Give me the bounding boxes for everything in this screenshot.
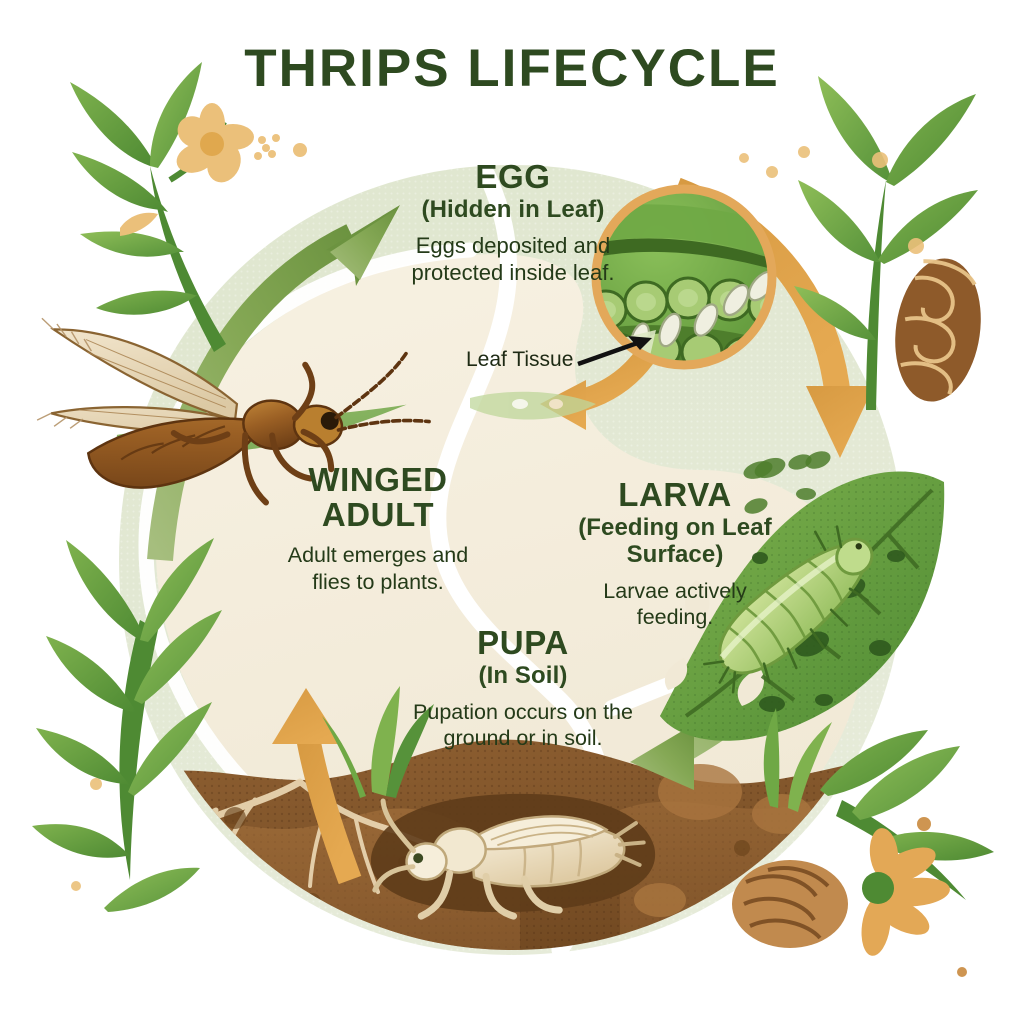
stage-pupa-description: Pupation occurs on the ground or in soil… — [398, 699, 648, 751]
infographic-canvas: THRIPS LIFECYCLE EGG (Hidden in Leaf) Eg… — [0, 0, 1024, 1024]
stage-larva-description: Larvae actively feeding. — [575, 578, 775, 630]
stage-adult-heading: WINGED ADULT — [283, 463, 473, 532]
stage-pupa-subheading: (In Soil) — [398, 663, 648, 690]
stage-larva-subheading: (Feeding on Leaf Surface) — [575, 515, 775, 569]
stage-egg: EGG (Hidden in Leaf) Eggs deposited and … — [398, 160, 628, 287]
stage-egg-heading: EGG — [398, 160, 628, 195]
page-title: THRIPS LIFECYCLE — [0, 38, 1024, 99]
stage-larva: LARVA (Feeding on Leaf Surface) Larvae a… — [575, 478, 775, 630]
leaf-tissue-callout: Leaf Tissue — [466, 348, 573, 372]
stage-egg-description: Eggs deposited and protected inside leaf… — [398, 233, 628, 287]
stage-larva-heading: LARVA — [575, 478, 775, 513]
stage-adult: WINGED ADULT Adult emerges and flies to … — [283, 463, 473, 595]
stage-egg-subheading: (Hidden in Leaf) — [398, 197, 628, 224]
stage-adult-description: Adult emerges and flies to plants. — [283, 542, 473, 594]
stage-pupa-heading: PUPA — [398, 626, 648, 661]
lifecycle-illustration — [0, 0, 1024, 1024]
stage-pupa: PUPA (In Soil) Pupation occurs on the gr… — [398, 626, 648, 751]
